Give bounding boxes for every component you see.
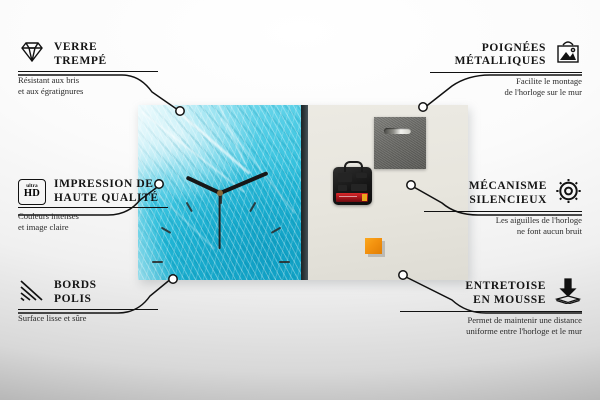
callout-sub-line1: Couleurs intenses bbox=[18, 211, 168, 222]
ultra-hd-icon: ultra HD bbox=[18, 179, 46, 205]
callout-rule bbox=[18, 207, 168, 208]
clock-tick bbox=[185, 201, 192, 212]
callout-title-line2: EN MOUSSE bbox=[465, 294, 546, 308]
clock-hour-hand bbox=[185, 175, 220, 194]
infographic-canvas: VERRE TREMPÉ Résistant aux bris et aux é… bbox=[0, 0, 600, 400]
arrow-down-pad-icon bbox=[554, 278, 582, 309]
clock-tick bbox=[249, 201, 256, 212]
callout-sub-line1: Facilite le montage bbox=[430, 76, 582, 87]
clock-tick bbox=[152, 261, 163, 263]
callout-sub-line2: et image claire bbox=[18, 222, 168, 233]
callout-title-line1: IMPRESSION DE bbox=[54, 178, 159, 192]
callout-sub-line1: Les aiguilles de l'horloge bbox=[424, 215, 582, 226]
callout-bords-polis: BORDS POLIS Surface lisse et sûre bbox=[18, 278, 158, 324]
callout-sub-line1: Surface lisse et sûre bbox=[18, 313, 158, 324]
callout-poignees-metalliques: POIGNÉES MÉTALLIQUES Facilite le montage… bbox=[430, 40, 582, 98]
callout-title-line2: MÉTALLIQUES bbox=[455, 55, 546, 69]
polished-edge-icon bbox=[18, 278, 46, 307]
callout-entretoise-en-mousse: ENTRETOISE EN MOUSSE Permet de maintenir… bbox=[400, 278, 582, 337]
panel-edge bbox=[301, 105, 308, 280]
clock-mechanism bbox=[333, 167, 372, 205]
callout-impression-haute-qualite: ultra HD IMPRESSION DE HAUTE QUALITÉ Cou… bbox=[18, 178, 168, 233]
callout-sub-line1: Permet de maintenir une distance bbox=[400, 315, 582, 326]
diamond-icon bbox=[18, 40, 46, 69]
callout-rule bbox=[18, 71, 158, 72]
foam-spacer bbox=[365, 238, 382, 254]
callout-title-line2: HAUTE QUALITÉ bbox=[54, 192, 159, 206]
callout-sub-line2: de l'horloge sur le mur bbox=[430, 87, 582, 98]
clock-battery bbox=[336, 193, 368, 202]
callout-verre-trempe: VERRE TREMPÉ Résistant aux bris et aux é… bbox=[18, 40, 158, 97]
callout-rule bbox=[18, 309, 158, 310]
callout-sub-line2: et aux égratignures bbox=[18, 86, 158, 97]
callout-mecanisme-silencieux: MÉCANISME SILENCIEUX Les aiguilles de l'… bbox=[424, 178, 582, 237]
battery-positive-terminal bbox=[362, 194, 367, 201]
callout-rule bbox=[400, 311, 582, 312]
callout-title-line1: VERRE bbox=[54, 41, 107, 55]
hanger-plate bbox=[374, 117, 426, 169]
clock-second-hand bbox=[219, 193, 221, 249]
callout-title-line1: MÉCANISME bbox=[469, 180, 547, 194]
callout-rule bbox=[430, 72, 582, 73]
callout-sub-line2: ne font aucun bruit bbox=[424, 226, 582, 237]
callout-title-line2: TREMPÉ bbox=[54, 55, 107, 69]
callout-title-line1: BORDS bbox=[54, 279, 97, 293]
callout-title-line1: ENTRETOISE bbox=[465, 280, 546, 294]
picture-frame-hook-icon bbox=[554, 40, 582, 70]
product-photo bbox=[138, 105, 468, 280]
gear-icon bbox=[555, 178, 582, 209]
hanger-slot bbox=[384, 128, 411, 134]
callout-title-line1: POIGNÉES bbox=[455, 42, 546, 56]
mechanism-hanging-loop bbox=[344, 161, 363, 172]
clock-tick bbox=[270, 226, 281, 233]
clock-tick bbox=[279, 261, 290, 263]
callout-rule bbox=[424, 211, 582, 212]
hd-icon-main-text: HD bbox=[24, 189, 40, 200]
callout-sub-line2: uniforme entre l'horloge et le mur bbox=[400, 326, 582, 337]
callout-sub-line1: Résistant aux bris bbox=[18, 75, 158, 86]
callout-title-line2: SILENCIEUX bbox=[469, 194, 547, 208]
clock-center-cap bbox=[217, 190, 223, 196]
callout-title-line2: POLIS bbox=[54, 293, 97, 307]
